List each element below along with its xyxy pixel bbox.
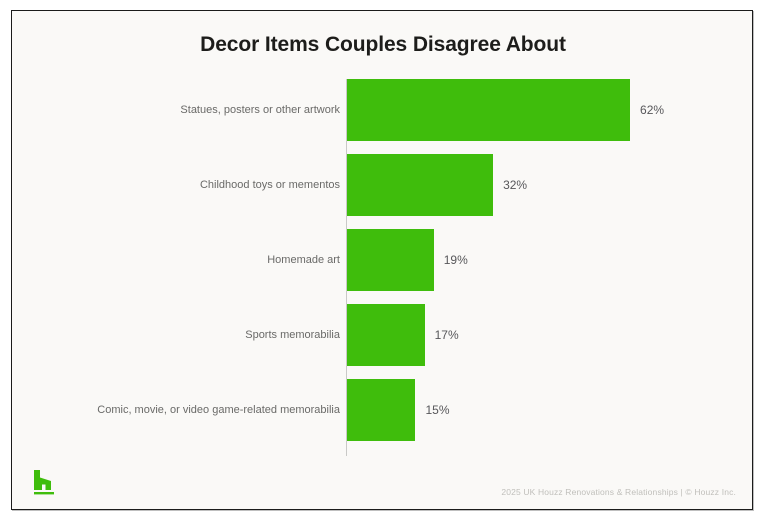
- bar-value-label: 62%: [640, 79, 664, 141]
- bar-value-label: 17%: [435, 304, 459, 366]
- chart-plot-area: Statues, posters or other artwork62%Chil…: [12, 11, 754, 511]
- bar-row: Comic, movie, or video game-related memo…: [12, 379, 754, 441]
- bar: [347, 154, 493, 216]
- bar-row: Statues, posters or other artwork62%: [12, 79, 754, 141]
- bar-row: Childhood toys or mementos32%: [12, 154, 754, 216]
- bar-row: Sports memorabilia17%: [12, 304, 754, 366]
- bar-category-label: Homemade art: [12, 229, 340, 291]
- footer-credit: 2025 UK Houzz Renovations & Relationship…: [501, 487, 736, 497]
- bar-value-label: 19%: [444, 229, 468, 291]
- bar-value-label: 32%: [503, 154, 527, 216]
- houzz-h-logo: [31, 469, 57, 495]
- bar-row: Homemade art19%: [12, 229, 754, 291]
- bar-category-label: Sports memorabilia: [12, 304, 340, 366]
- slide-canvas: Decor Items Couples Disagree About Statu…: [0, 0, 766, 522]
- bar-category-label: Childhood toys or mementos: [12, 154, 340, 216]
- chart-frame: Decor Items Couples Disagree About Statu…: [11, 10, 753, 510]
- bar: [347, 79, 630, 141]
- bar: [347, 379, 415, 441]
- bar: [347, 229, 434, 291]
- bar-category-label: Statues, posters or other artwork: [12, 79, 340, 141]
- bar-category-label: Comic, movie, or video game-related memo…: [12, 379, 340, 441]
- bar: [347, 304, 425, 366]
- bar-value-label: 15%: [425, 379, 449, 441]
